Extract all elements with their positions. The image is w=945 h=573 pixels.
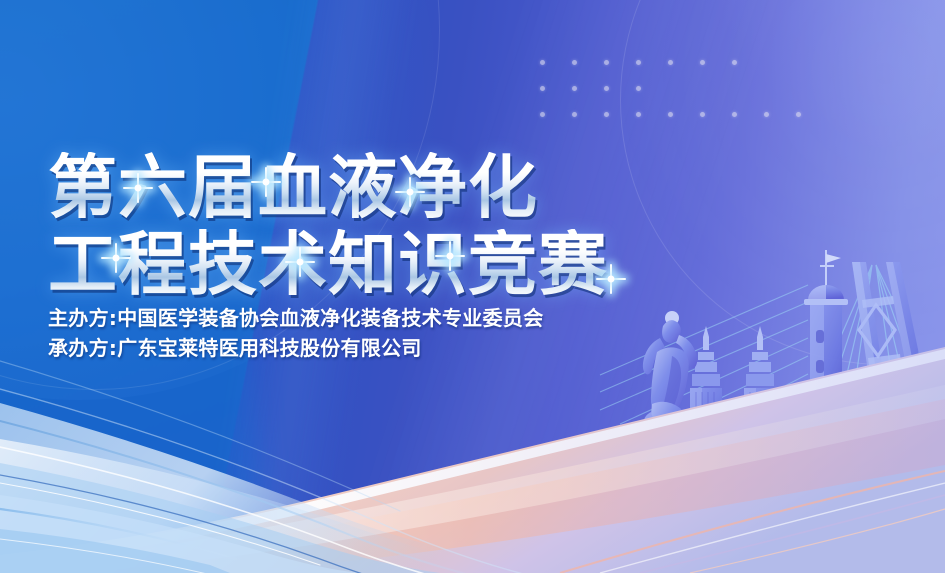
bottom-left-wave-streaks: [0, 343, 560, 573]
subtitle-organizer: 主办方:中国医学装备协会血液净化装备技术专业委员会: [48, 303, 544, 333]
banner-title: 第六届血液净化 工程技术知识竞赛: [48, 152, 608, 302]
banner-subtitle: 主办方:中国医学装备协会血液净化装备技术专业委员会 承办方:广东宝莱特医用科技股…: [48, 303, 544, 363]
subtitle-host: 承办方:广东宝莱特医用科技股份有限公司: [48, 333, 544, 363]
title-line-2: 工程技术知识竞赛: [48, 229, 608, 302]
event-banner: 第六届血液净化 工程技术知识竞赛 主办方:中国医学装备协会血液净化装备技术专业委…: [0, 0, 945, 573]
title-line-1: 第六届血液净化: [48, 152, 608, 225]
